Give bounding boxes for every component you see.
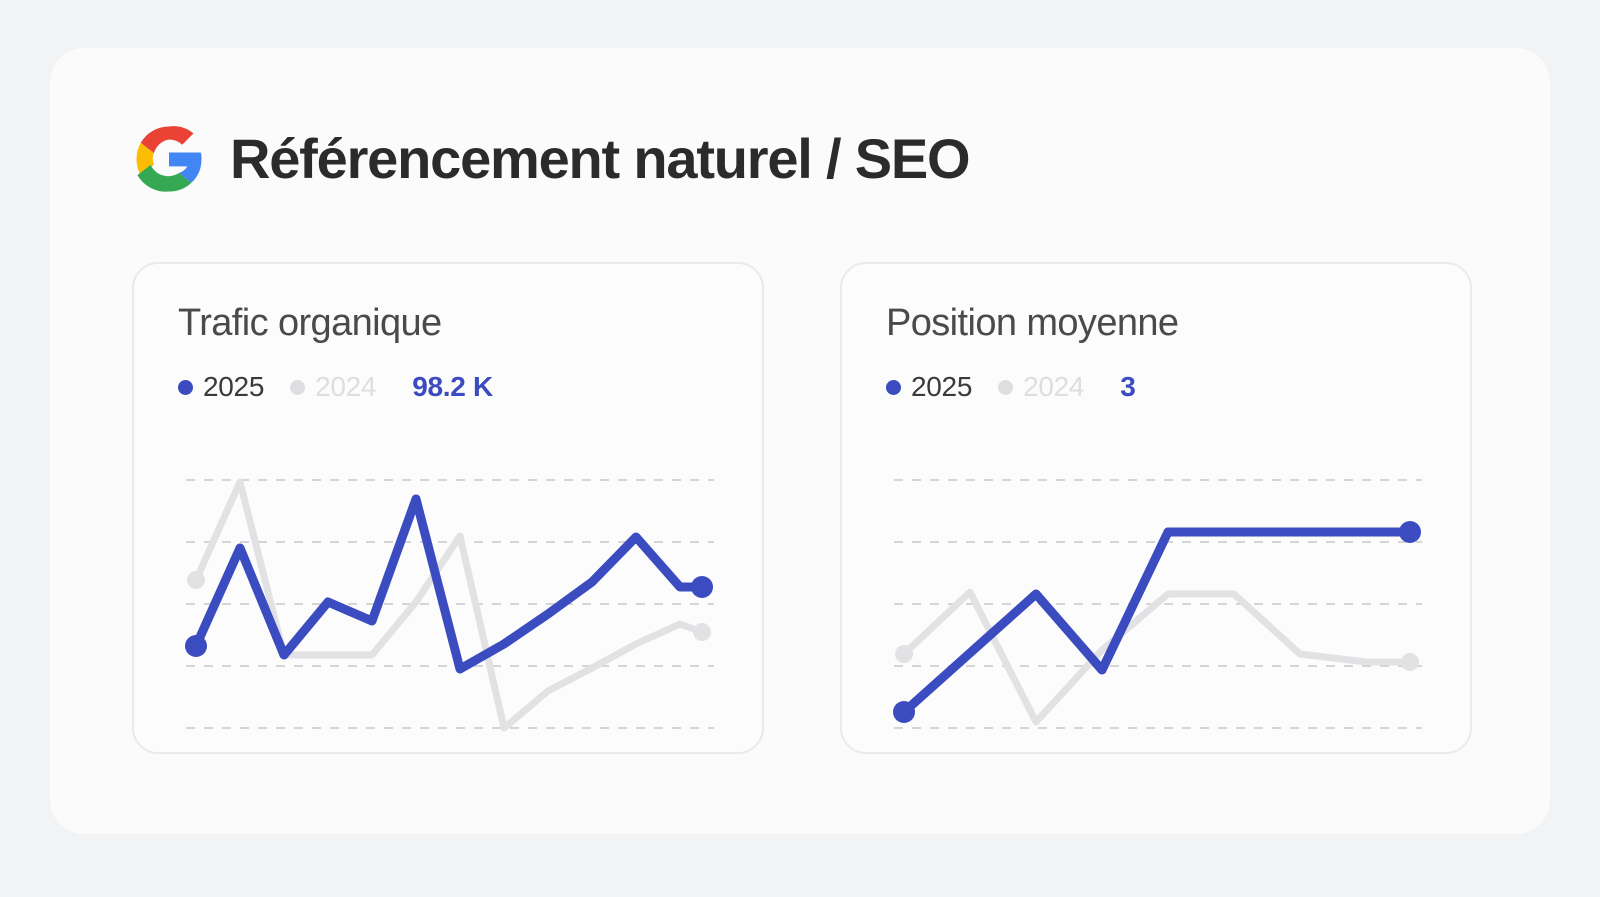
metric-value: 3 <box>1120 373 1135 401</box>
card-title: Position moyenne <box>886 304 1426 342</box>
legend-item-2025[interactable]: 2025 <box>178 373 264 401</box>
legend-dot-icon-previous <box>998 380 1013 395</box>
card-trafic-organique[interactable]: Trafic organique 2025 2024 98.2 K <box>132 262 764 754</box>
series-line-2025 <box>904 532 1410 712</box>
legend-item-2024[interactable]: 2024 <box>290 373 376 401</box>
legend-dot-icon-current <box>886 380 901 395</box>
panel-header: Référencement naturel / SEO <box>130 120 969 198</box>
google-g-icon <box>130 120 208 198</box>
legend-item-2024[interactable]: 2024 <box>998 373 1084 401</box>
legend-label-current: 2025 <box>203 373 264 401</box>
series-endpoint-2024-end <box>1401 653 1419 671</box>
legend-dot-icon-previous <box>290 380 305 395</box>
chart-position-moyenne <box>886 454 1430 744</box>
legend-dot-icon-current <box>178 380 193 395</box>
series-endpoint-2025-end <box>691 576 713 598</box>
chart-svg <box>886 454 1430 744</box>
card-position-moyenne[interactable]: Position moyenne 2025 2024 3 <box>840 262 1472 754</box>
series-endpoint-2025-end <box>1399 521 1421 543</box>
page-root: Référencement naturel / SEO Trafic organ… <box>0 0 1600 897</box>
chart-legend: 2025 2024 98.2 K <box>178 370 718 404</box>
series-line-2024 <box>904 592 1410 722</box>
metric-cards: Trafic organique 2025 2024 98.2 K <box>132 262 1472 754</box>
page-title: Référencement naturel / SEO <box>230 131 969 187</box>
card-title: Trafic organique <box>178 304 718 342</box>
series-endpoint-2025-start <box>893 701 915 723</box>
legend-label-previous: 2024 <box>1023 373 1084 401</box>
series-endpoint-2024-end <box>693 623 711 641</box>
series-line-2025 <box>196 499 702 669</box>
legend-item-2025[interactable]: 2025 <box>886 373 972 401</box>
series-endpoint-2024-start <box>895 645 913 663</box>
metric-value: 98.2 K <box>412 373 493 401</box>
chart-svg <box>178 454 722 744</box>
seo-panel: Référencement naturel / SEO Trafic organ… <box>50 48 1550 834</box>
chart-trafic-organique <box>178 454 722 744</box>
legend-label-current: 2025 <box>911 373 972 401</box>
series-endpoint-2025-start <box>185 635 207 657</box>
chart-legend: 2025 2024 3 <box>886 370 1426 404</box>
series-endpoint-2024-start <box>187 571 205 589</box>
series-line-2024 <box>196 482 702 728</box>
legend-label-previous: 2024 <box>315 373 376 401</box>
